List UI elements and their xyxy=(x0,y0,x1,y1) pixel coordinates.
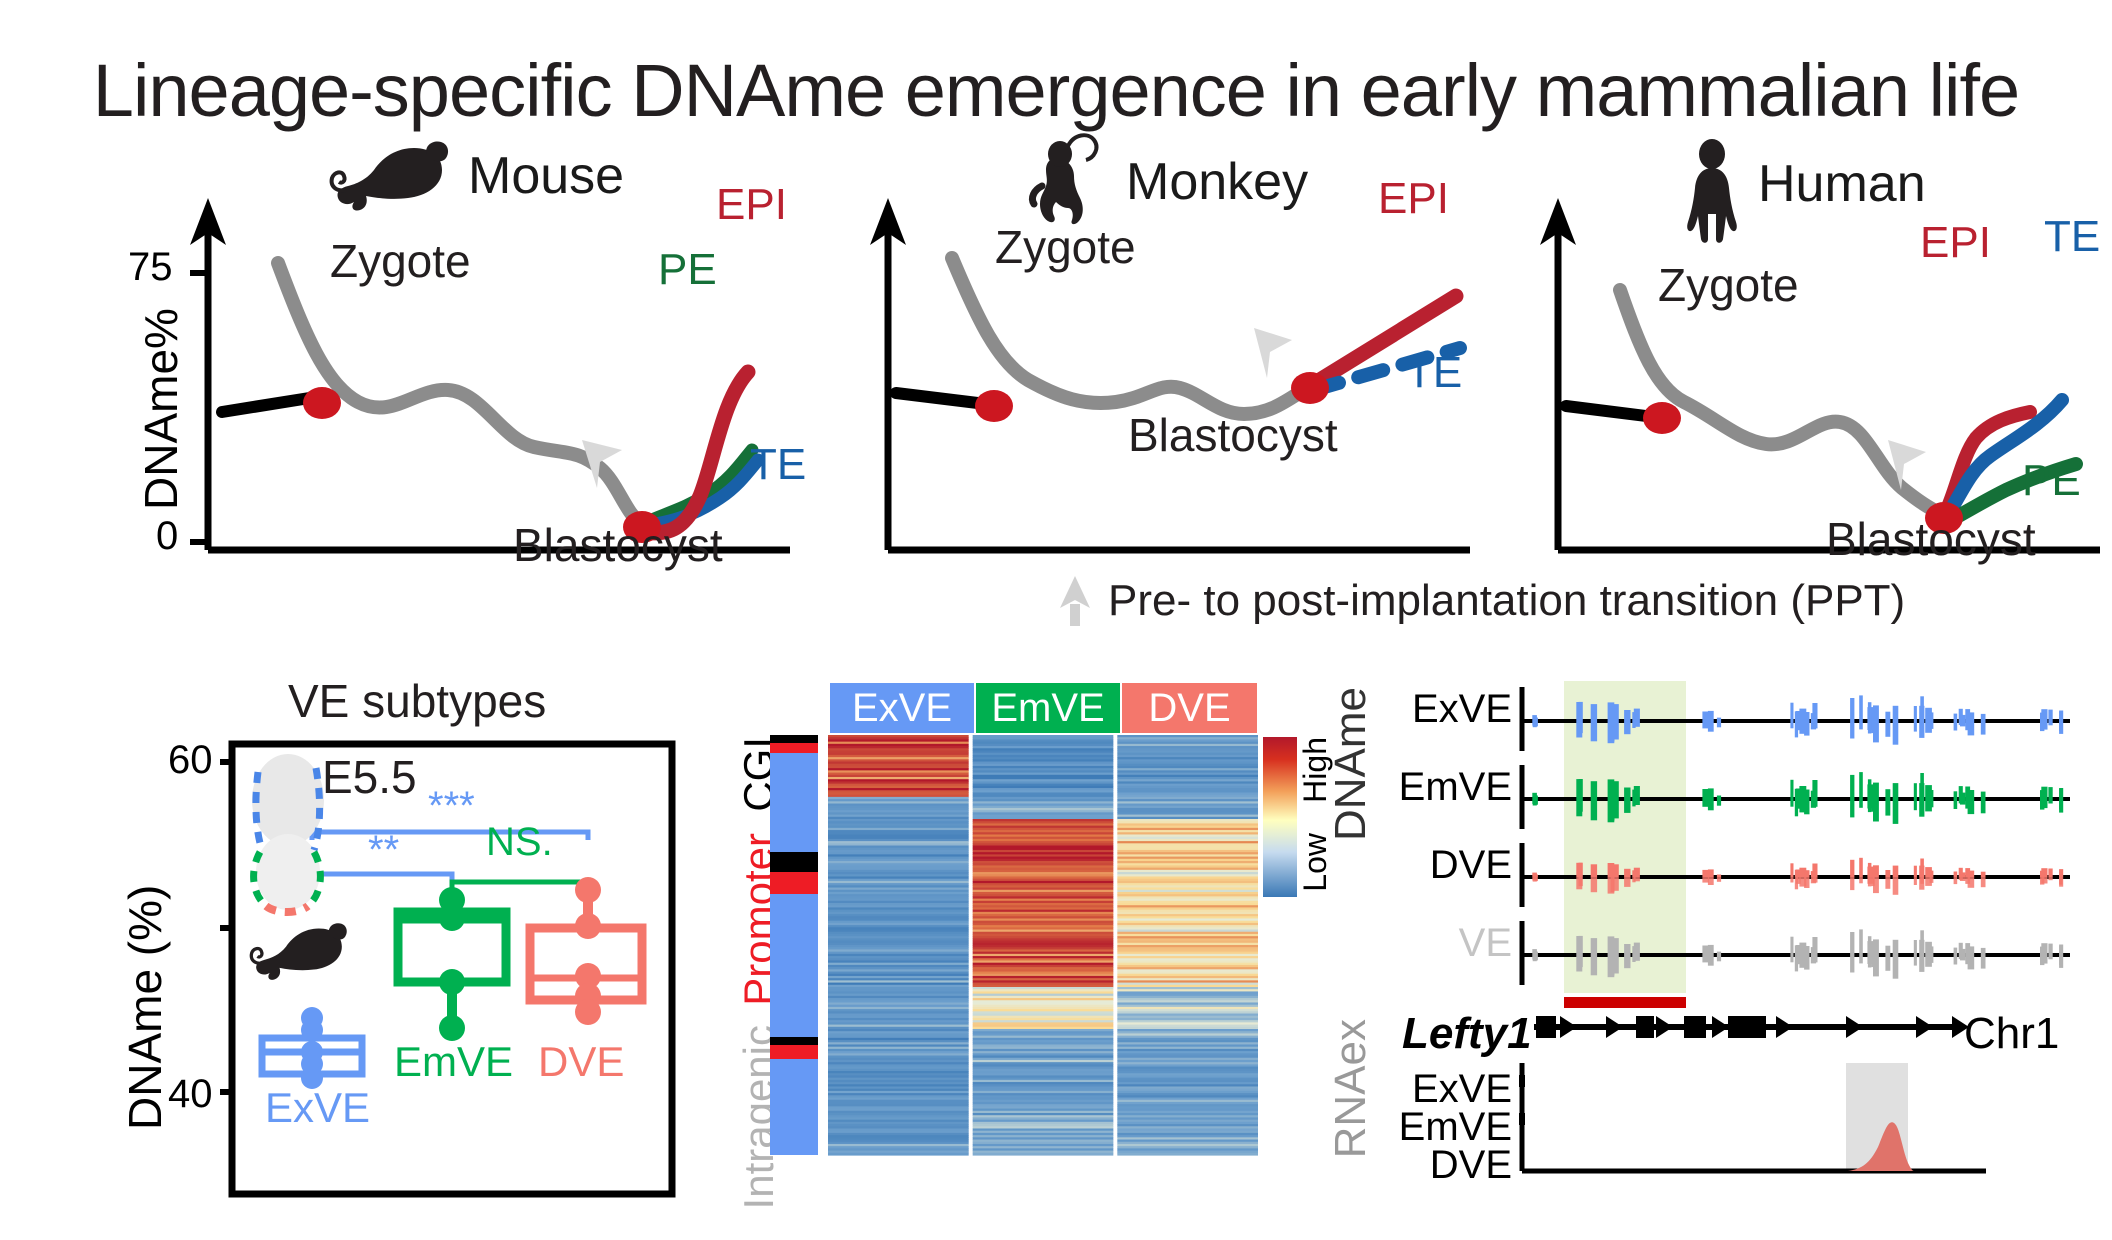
zygote-marker xyxy=(1643,402,1681,434)
heatmap-cell xyxy=(828,1153,969,1156)
mouse-stage-blastocyst: Blastocyst xyxy=(513,518,723,572)
sig-label-exve-dve: *** xyxy=(428,784,475,829)
human-icon xyxy=(1674,140,1750,246)
human-species-label: Human xyxy=(1758,154,1926,214)
monkey-label-epi: EPI xyxy=(1378,174,1449,224)
monkey-species-label: Monkey xyxy=(1126,152,1308,212)
monkey-stage-zygote: Zygote xyxy=(995,220,1136,274)
mouse-label-pe: PE xyxy=(658,245,717,295)
human-stage-zygote: Zygote xyxy=(1658,258,1799,312)
panel-mouse: 75 0 DNAme% Zygote Blastocyst EPI PE TE … xyxy=(130,150,810,580)
heatmap-colorbar xyxy=(1263,737,1297,897)
mouse-epi-curve xyxy=(642,372,748,533)
ppt-arrowhead-icon xyxy=(1058,574,1092,628)
heatmap-col-header-emve: EmVE xyxy=(976,683,1120,733)
ppt-legend-text: Pre- to post-implantation transition (PP… xyxy=(1108,576,1905,626)
rnaex-tracks xyxy=(1522,1063,1986,1171)
human-label-te: TE xyxy=(2044,212,2100,262)
mouse-y-axis-label: DNAme% xyxy=(134,308,188,510)
rnaex-track-label-dve: DVE xyxy=(1372,1143,1512,1188)
mouse-species-label: Mouse xyxy=(468,146,624,206)
heatmap-cell xyxy=(973,1153,1114,1156)
panel-monkey: Zygote Blastocyst EPI TE Monkey xyxy=(830,150,1490,580)
sig-label-emve-dve: NS. xyxy=(486,820,553,865)
mouse-label-te: TE xyxy=(750,440,806,490)
blastocyst-marker xyxy=(1291,372,1329,404)
boxplot-canvas xyxy=(110,660,690,1220)
monkey-stage-blastocyst: Blastocyst xyxy=(1128,408,1338,462)
dname-section-label: DNAme xyxy=(1326,687,1376,841)
heatmap-body xyxy=(828,735,1258,1155)
mouse-y-tick-0: 0 xyxy=(156,514,178,559)
dname-track-label-ve: VE xyxy=(1372,921,1512,966)
boxplot-stage-annotation: E5.5 xyxy=(322,750,417,804)
mouse-icon xyxy=(330,140,460,218)
monkey-label-te: TE xyxy=(1406,348,1462,398)
heatmap-col-header-exve: ExVE xyxy=(830,683,974,733)
mouse-stage-zygote: Zygote xyxy=(330,234,471,288)
box-label-exve: ExVE xyxy=(265,1084,370,1132)
box-label-dve: DVE xyxy=(538,1038,624,1086)
dname-track-label-exve: ExVE xyxy=(1372,687,1512,732)
species-panels-row: 75 0 DNAme% Zygote Blastocyst EPI PE TE … xyxy=(0,150,2112,590)
gene-model-lefty1 xyxy=(1534,1016,1969,1038)
dname-track-label-emve: EmVE xyxy=(1372,765,1512,810)
genome-browser-canvas xyxy=(1516,675,2076,1205)
dname-track-label-dve: DVE xyxy=(1372,843,1512,888)
box-label-emve: EmVE xyxy=(394,1038,513,1086)
zygote-marker xyxy=(975,390,1013,422)
human-label-epi: EPI xyxy=(1920,218,1991,268)
heatmap-cell xyxy=(1117,1153,1258,1156)
heatmap-row-annotation-bar xyxy=(770,735,818,1155)
zygote-marker xyxy=(303,387,341,419)
ppt-arrowhead-icon xyxy=(1254,328,1292,378)
human-stage-blastocyst: Blastocyst xyxy=(1826,512,2036,566)
sig-label-exve-emve: ** xyxy=(368,828,399,873)
monkey-icon xyxy=(1012,132,1120,228)
panel-genome-browser: DNAme RNAex ExVE EmVE DVE VE ExVE EmVE D… xyxy=(1320,665,2100,1225)
panel-heatmap: CGI Promoter Intragenic Genebody ExVE Em… xyxy=(715,665,1315,1225)
page-title: Lineage-specific DNAme emergence in earl… xyxy=(0,48,2112,133)
mouse-label-epi: EPI xyxy=(716,180,787,230)
gene-name-label: Lefty1 xyxy=(1402,1009,1532,1059)
mouse-y-tick-75: 75 xyxy=(128,245,173,290)
panel-human: Zygote Blastocyst EPI TE PE Human xyxy=(1510,150,2110,580)
heatmap-col-header-dve: DVE xyxy=(1122,683,1257,733)
human-label-pe: PE xyxy=(2022,456,2081,506)
panel-ve-boxplot: VE subtypes DNAme (%) 60 40 xyxy=(110,660,690,1220)
dmr-bar xyxy=(1564,997,1686,1008)
mouse-curve-plot xyxy=(130,150,810,580)
ppt-legend: Pre- to post-implantation transition (PP… xyxy=(1058,574,1905,628)
